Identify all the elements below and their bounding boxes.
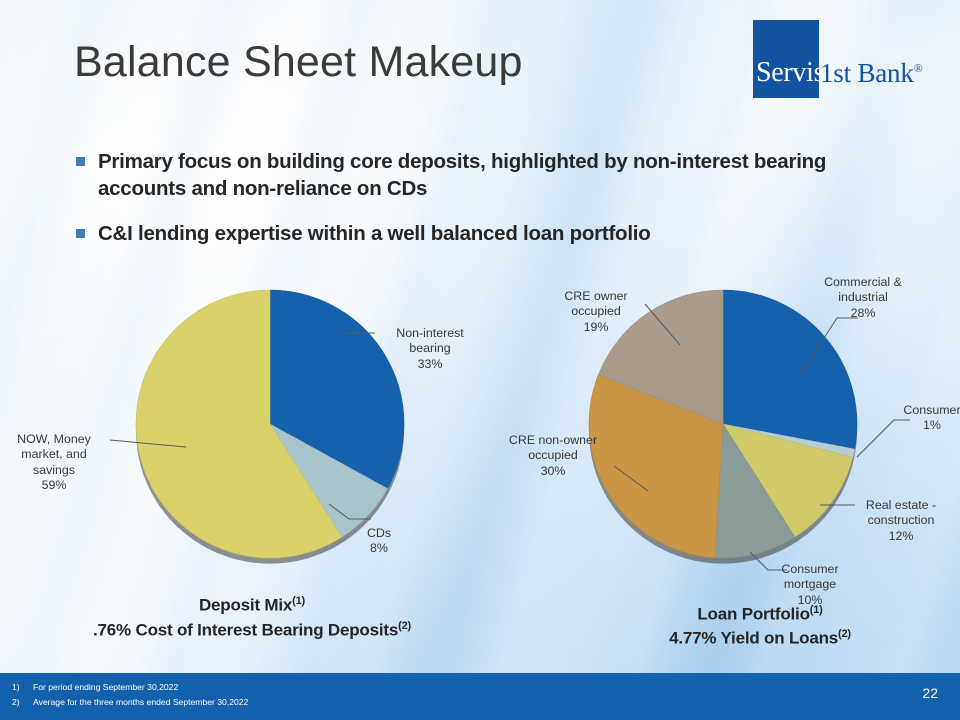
pie-label-cre-non-owner-occupied: CRE non-owner occupied 30% [494, 433, 612, 479]
pie-label-cre-owner-occupied: CRE owner occupied 19% [547, 289, 645, 335]
footnote-text: For period ending September 30,2022 [33, 682, 178, 692]
pie-label-consumer-mortgage: Consumer mortgage 10% [766, 562, 854, 608]
pie-label-now-money-market-savings: NOW, Money market, and savings 59% [0, 432, 110, 494]
page-number: 22 [922, 685, 938, 701]
loan-portfolio-subcaption: 4.77% Yield on Loans(2) [590, 628, 930, 649]
footnote-number: 1) [12, 682, 20, 692]
deposit-pie-slices [136, 290, 404, 564]
pie-label-non-interest-bearing: Non-interest bearing 33% [375, 326, 485, 372]
deposit-mix-subcaption: .76% Cost of Interest Bearing Deposits(2… [52, 620, 452, 641]
footnote-text: Average for the three months ended Septe… [33, 697, 248, 707]
pie-label-cds: CDs 8% [355, 526, 403, 557]
footer-bar: 1) For period ending September 30,2022 2… [0, 673, 960, 720]
footnote-number: 2) [12, 697, 20, 707]
deposit-mix-caption: Deposit Mix(1) [52, 595, 452, 616]
pie-label-commercial-industrial: Commercial & industrial 28% [808, 275, 918, 321]
pie-label-real-estate-construction: Real estate - construction 12% [849, 498, 953, 544]
loan-portfolio-caption: Loan Portfolio(1) [590, 604, 930, 625]
slide-canvas: Balance Sheet Makeup Servis 1st Bank® Pr… [0, 0, 960, 720]
pie-label-consumer: Consumer 1% [888, 403, 960, 434]
